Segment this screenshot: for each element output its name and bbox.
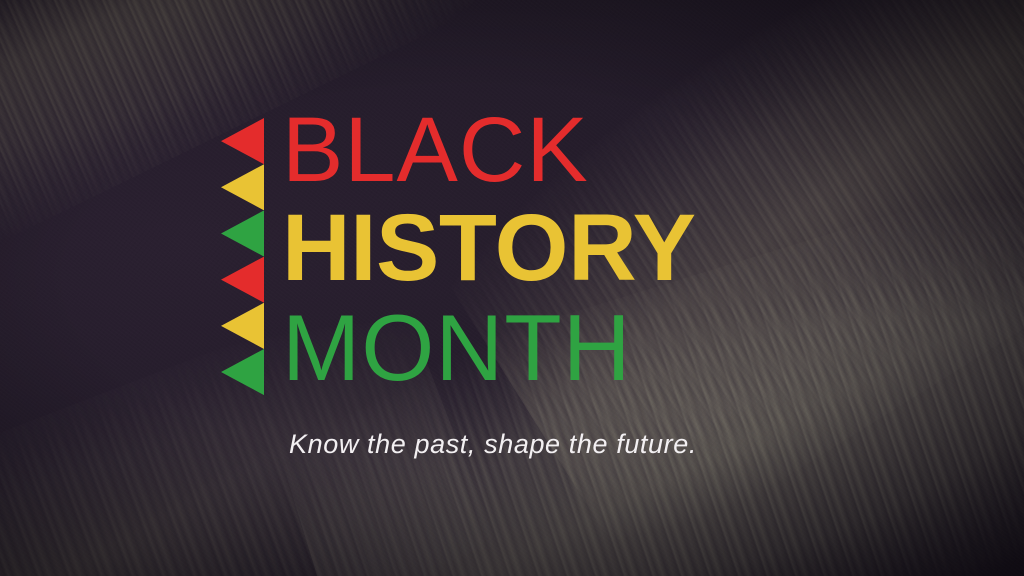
chevron-triangle-yellow xyxy=(221,164,264,210)
title-line-black: BLACK xyxy=(282,104,922,196)
chevron-triangle-green xyxy=(221,210,264,256)
black-history-month-poster: BLACK HISTORY MONTH Know the past, shape… xyxy=(0,0,1024,576)
chevron-decoration-column xyxy=(221,118,264,395)
chevron-triangle-yellow xyxy=(221,303,264,349)
poster-content: BLACK HISTORY MONTH Know the past, shape… xyxy=(0,0,1024,576)
chevron-triangle-red xyxy=(221,257,264,303)
tagline-text: Know the past, shape the future. xyxy=(289,429,697,460)
chevron-triangle-green xyxy=(221,349,264,395)
title-block: BLACK HISTORY MONTH xyxy=(282,104,922,395)
chevron-triangle-red xyxy=(221,118,264,164)
title-line-month: MONTH xyxy=(282,301,922,395)
title-line-history: HISTORY xyxy=(282,201,922,296)
